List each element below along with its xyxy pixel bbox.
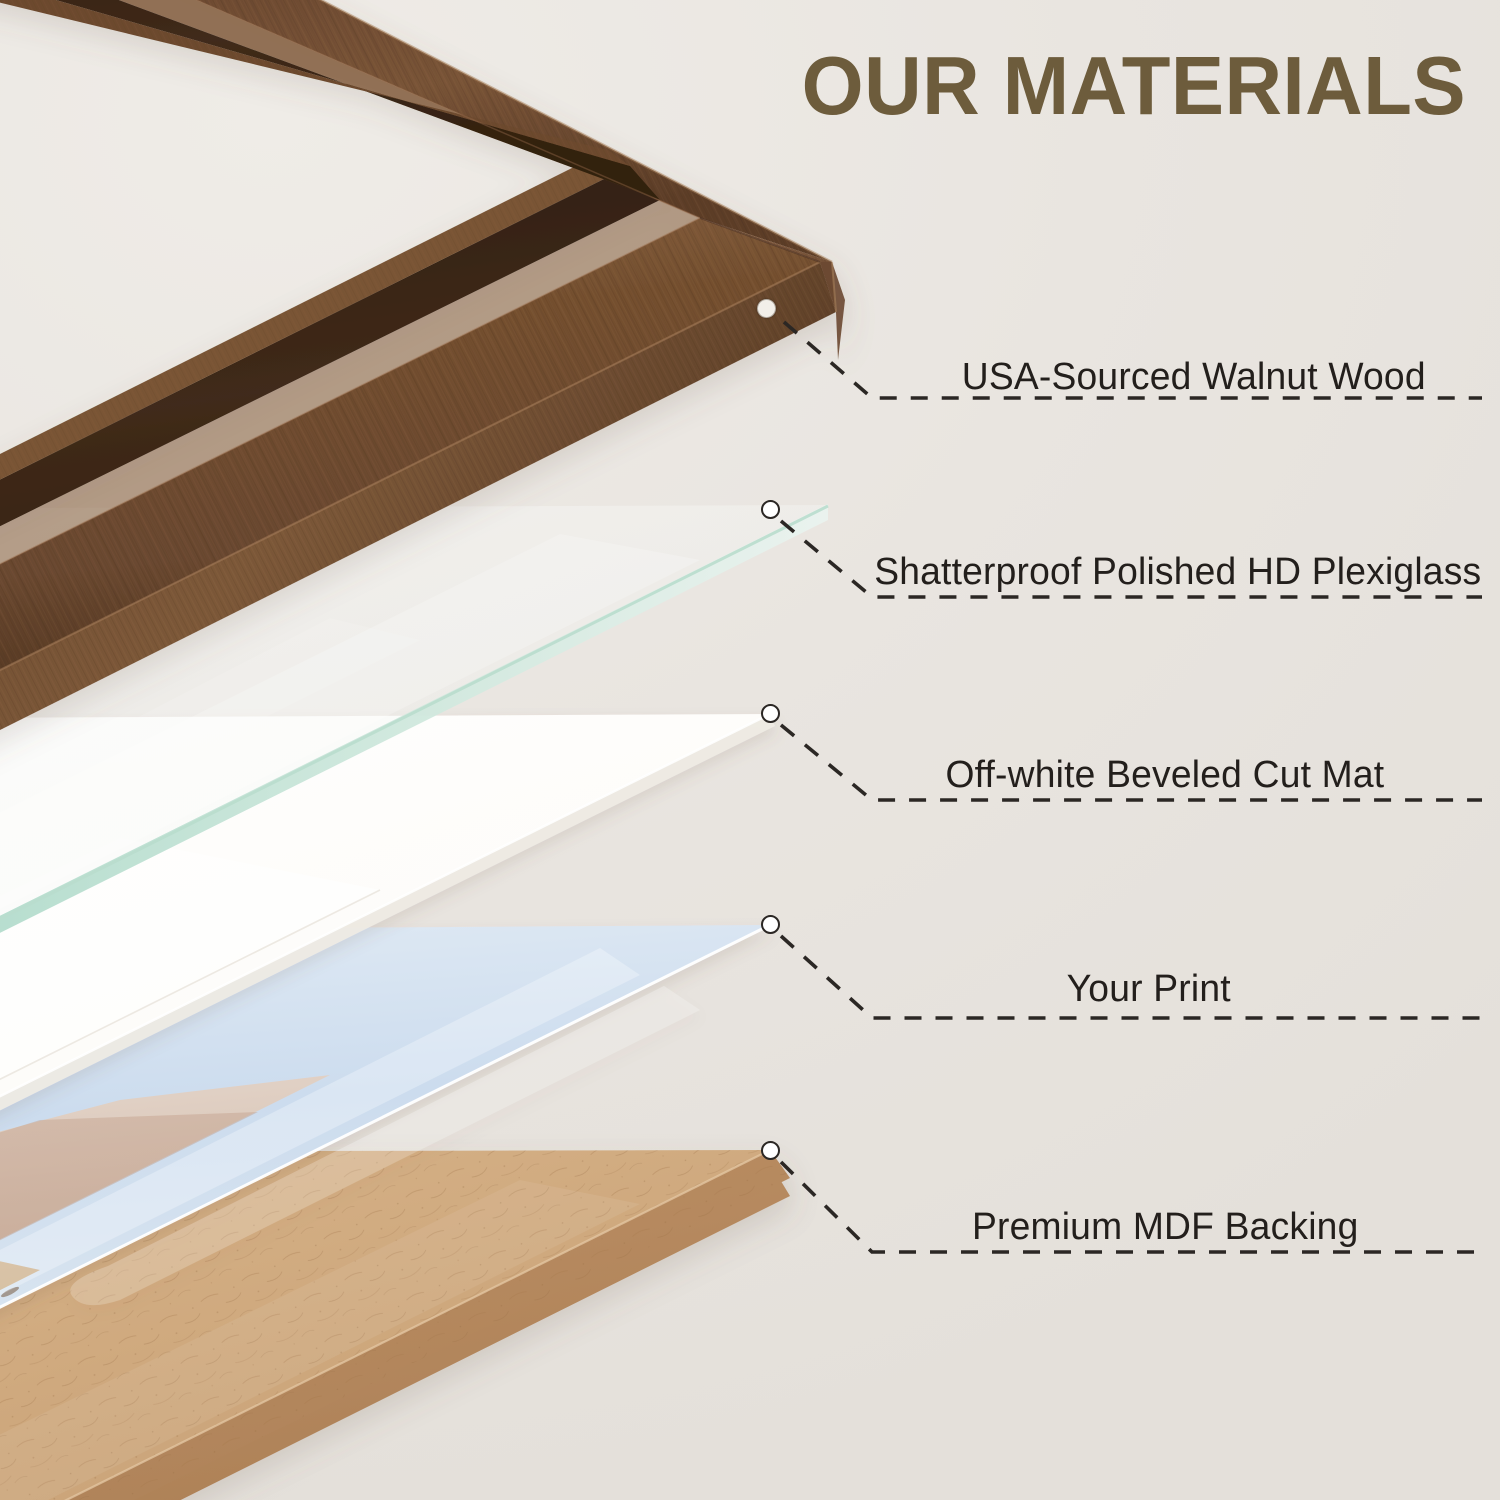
callout-marker-your-print[interactable] (761, 915, 780, 934)
callout-label-cut-mat: Off-white Beveled Cut Mat (945, 754, 1384, 797)
callout-marker-cut-mat[interactable] (761, 704, 780, 723)
page-title: OUR MATERIALS (802, 44, 1466, 127)
callout-label-walnut-wood: USA-Sourced Walnut Wood (962, 356, 1426, 399)
callout-label-plexiglass: Shatterproof Polished HD Plexiglass (874, 551, 1481, 594)
callout-marker-plexiglass[interactable] (761, 500, 780, 519)
callout-label-mdf-backing: Premium MDF Backing (972, 1206, 1359, 1249)
callout-marker-mdf-backing[interactable] (761, 1141, 780, 1160)
callout-marker-walnut-wood[interactable] (757, 299, 776, 318)
callout-label-your-print: Your Print (1067, 968, 1231, 1011)
exploded-frame-illustration (0, 0, 1500, 1500)
product-materials-infographic: OUR MATERIALS USA-Sourced Walnut Wood Sh… (0, 0, 1500, 1500)
